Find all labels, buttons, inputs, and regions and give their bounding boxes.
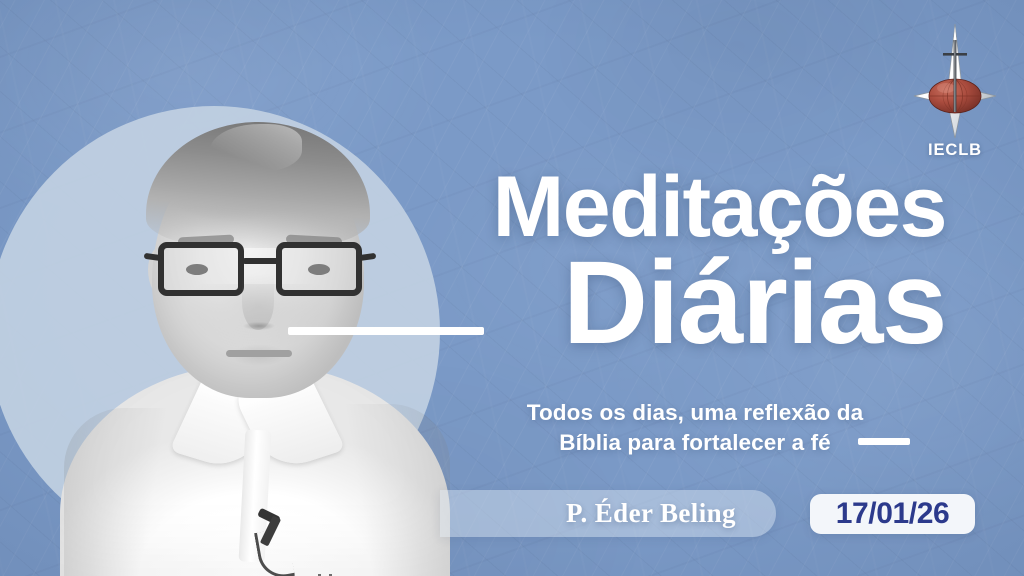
glasses-temple-right bbox=[358, 253, 377, 261]
ieclb-wordmark: IECLB bbox=[905, 141, 1005, 160]
subtitle-line-2: Bíblia para fortalecer a fé bbox=[460, 428, 930, 458]
date-badge: 17/01/26 bbox=[810, 494, 975, 534]
glasses-lens-left bbox=[158, 242, 244, 296]
glasses-bridge bbox=[242, 258, 280, 264]
glasses-lens-right bbox=[276, 242, 362, 296]
date-badge-label: 17/01/26 bbox=[836, 499, 950, 529]
portrait-hair-highlight bbox=[210, 124, 302, 172]
portrait-mouth bbox=[226, 350, 292, 357]
divider-dash-large bbox=[288, 327, 484, 335]
subtitle: Todos os dias, uma reflexão da Bíblia pa… bbox=[460, 398, 930, 457]
speaker-name: P. Éder Beling bbox=[440, 490, 776, 537]
page-title: Meditações Diárias bbox=[493, 168, 946, 358]
cross-vertical-highlight bbox=[954, 40, 955, 112]
portrait-nose-shadow bbox=[236, 320, 282, 332]
portrait-shoulder-shade-left bbox=[64, 408, 184, 576]
subtitle-line-1: Todos os dias, uma reflexão da bbox=[460, 398, 930, 428]
globe-highlight bbox=[937, 83, 955, 93]
title-line-2: Diárias bbox=[493, 249, 946, 358]
portrait-shoulder-shade-right bbox=[332, 404, 450, 576]
glasses-temple-left bbox=[144, 253, 163, 261]
ieclb-logo: IECLB bbox=[905, 22, 1005, 162]
meditacoes-diarias-thumbnail: Meditações Diárias Todos os dias, uma re… bbox=[0, 0, 1024, 576]
title-line-1: Meditações bbox=[493, 168, 946, 247]
ieclb-church-spire-globe-cross-icon bbox=[912, 22, 998, 140]
